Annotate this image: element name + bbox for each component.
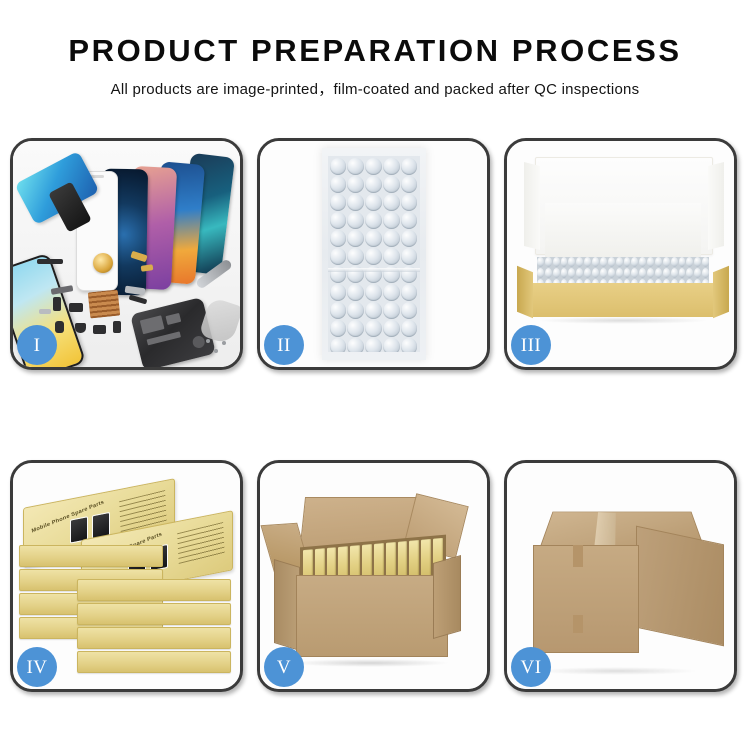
bubble-wrap-seam: [328, 268, 420, 272]
speaker-part: [37, 259, 63, 264]
step-numeral-6: VI: [520, 658, 541, 677]
step-numeral-4: IV: [26, 658, 47, 677]
chip-grid-part: [88, 290, 121, 319]
sim-tray-part: [55, 321, 64, 333]
carton-front-face: [296, 575, 448, 657]
step-numeral-1: I: [34, 336, 41, 355]
retail-box-right-1: [77, 579, 231, 601]
carton-shadow-open: [290, 659, 450, 667]
screw-3: [206, 339, 210, 343]
process-step-panel-1: I: [10, 138, 243, 370]
process-step-panel-3: III: [504, 138, 737, 370]
mailer-box-shadow: [537, 317, 709, 324]
process-step-panel-4: Mobile Phone Spare Parts Mobile Phone Sp…: [10, 460, 243, 692]
retail-box-right-2: [77, 603, 231, 625]
step-badge-2: II: [264, 325, 304, 365]
box-spec-lines-2: [177, 522, 225, 567]
screw-2: [222, 341, 226, 345]
screw-bracket-part: [39, 309, 51, 314]
battery-connector-part: [113, 321, 121, 333]
foam-sheet: [545, 203, 701, 259]
connector-part-2: [69, 303, 83, 312]
bubble-grid: [328, 156, 420, 352]
bubble-wrap-pouch: [322, 148, 426, 360]
step-badge-6: VI: [511, 647, 551, 687]
loud-speaker-part: [93, 325, 106, 334]
sealed-carton-right-face: [636, 526, 724, 647]
vibration-motor-part: [93, 253, 113, 273]
retail-box-stack: Mobile Phone Spare Parts Mobile Phone Sp…: [19, 479, 239, 679]
step-numeral-3: III: [521, 336, 541, 355]
step-badge-1: I: [17, 325, 57, 365]
page-subtitle: All products are image-printed，film-coat…: [0, 69, 750, 99]
retail-box-right-4: [77, 651, 231, 673]
step-numeral-2: II: [277, 336, 291, 355]
process-step-panel-5: V: [257, 460, 490, 692]
carton-seam-lower: [573, 615, 583, 633]
carton-seam-upper: [573, 545, 583, 567]
process-step-grid: I: [10, 138, 740, 692]
carton-right-side: [433, 555, 461, 639]
page-title: PRODUCT PREPARATION PROCESS: [0, 0, 750, 69]
step-badge-5: V: [264, 647, 304, 687]
step-numeral-5: V: [277, 658, 291, 677]
header: PRODUCT PREPARATION PROCESS All products…: [0, 0, 750, 99]
sealed-carton-front-face: [533, 545, 639, 653]
carton-shadow-sealed: [537, 667, 697, 675]
screw-1: [214, 349, 218, 353]
connector-part-1: [53, 297, 61, 311]
retail-box-left-1: [19, 545, 163, 567]
taptic-engine-part: [75, 323, 86, 333]
mailer-box-base: [529, 283, 717, 317]
bubble-wrap-field: [328, 156, 420, 352]
process-step-panel-6: VI: [504, 460, 737, 692]
step-badge-4: IV: [17, 647, 57, 687]
retail-box-right-3: [77, 627, 231, 649]
step-badge-3: III: [511, 325, 551, 365]
product-preparation-infographic: PRODUCT PREPARATION PROCESS All products…: [0, 0, 750, 750]
process-step-panel-2: II: [257, 138, 490, 370]
